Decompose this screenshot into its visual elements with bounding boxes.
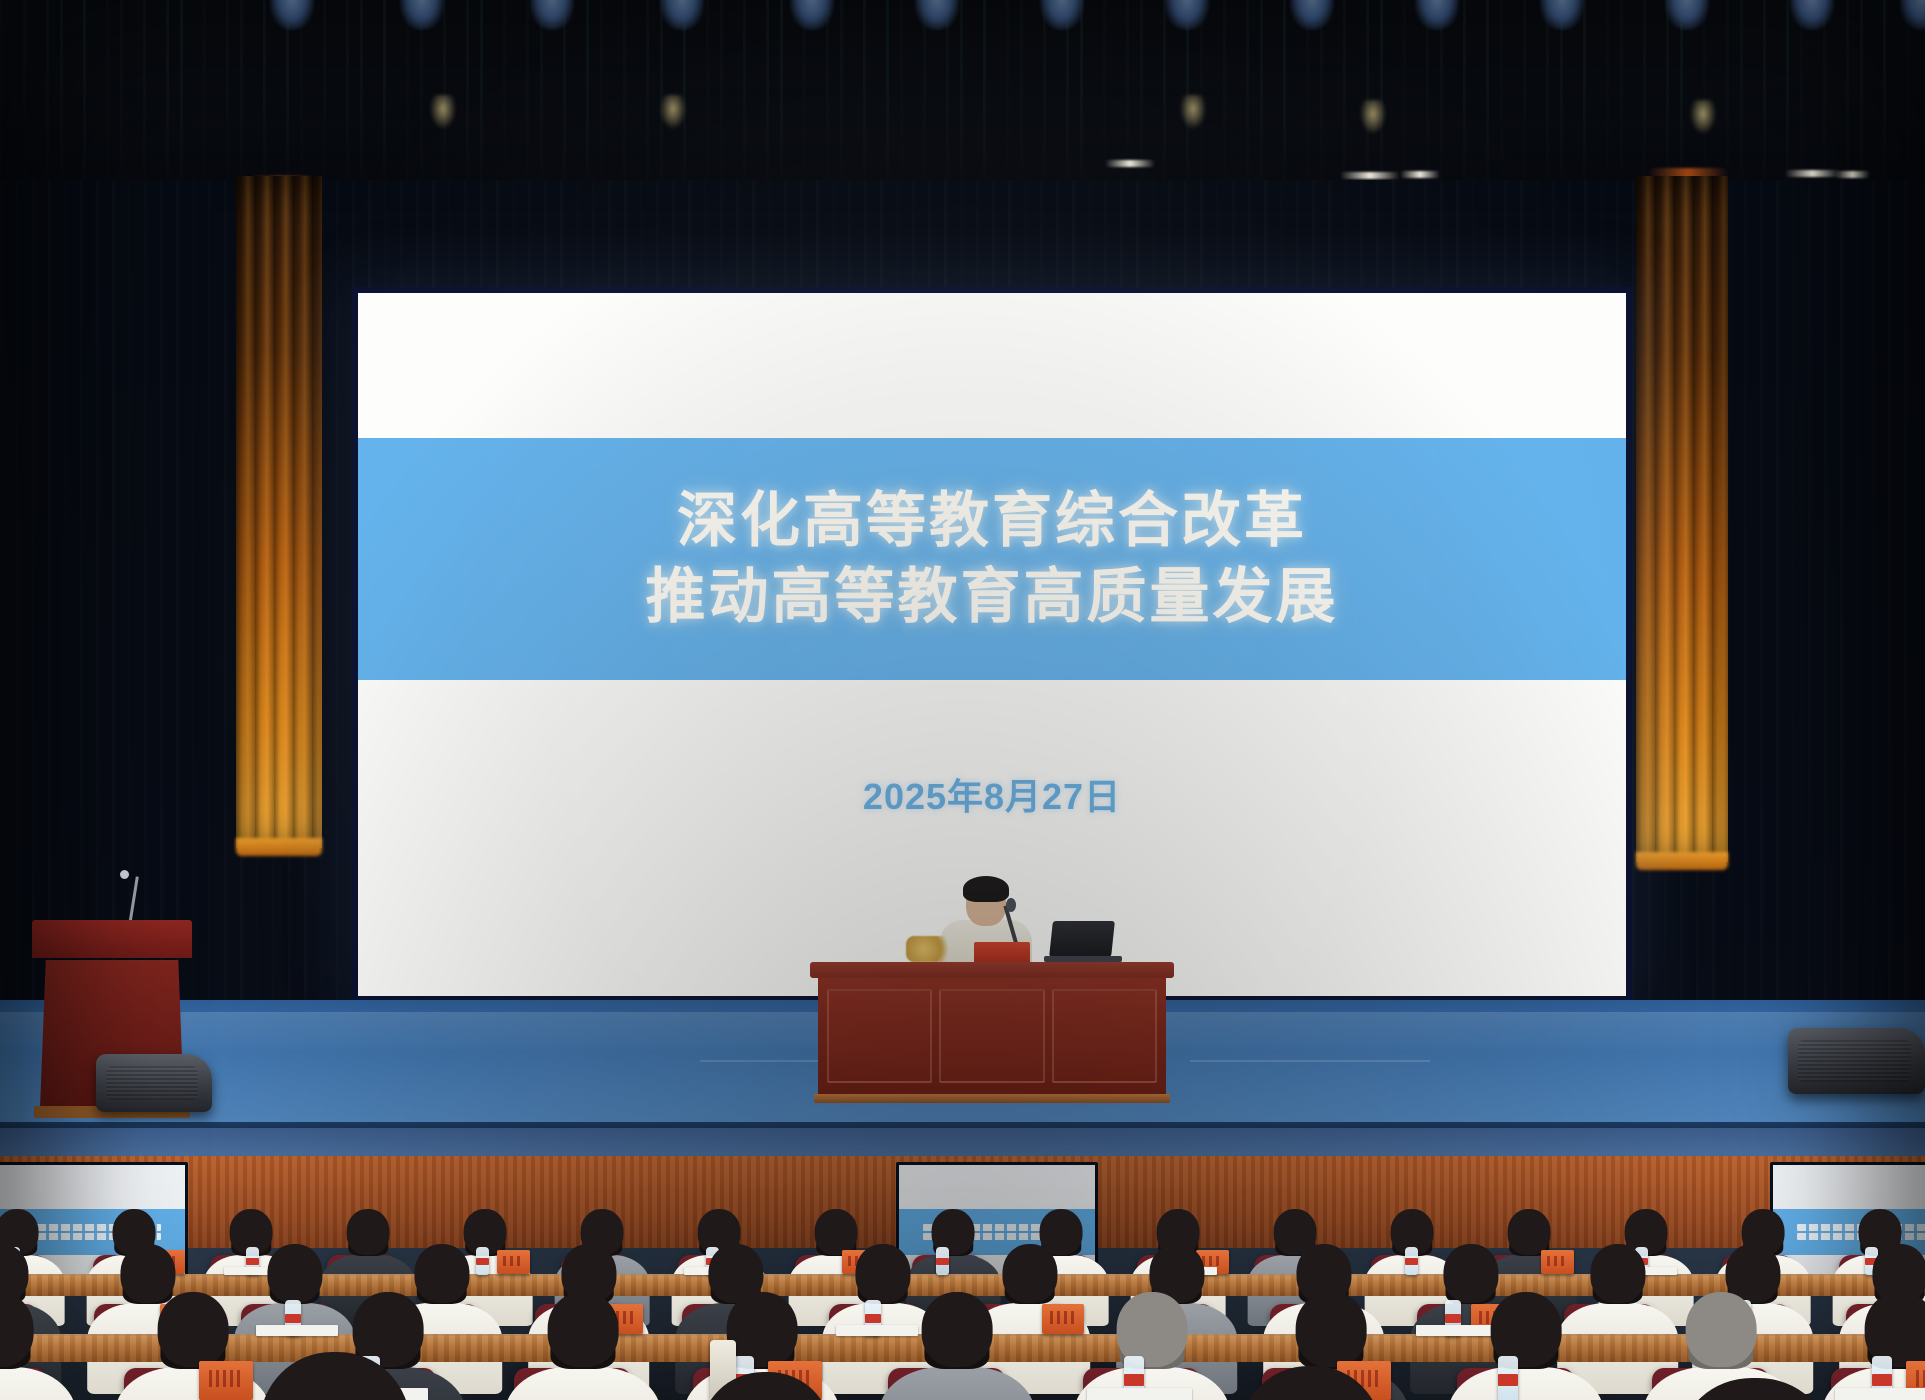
warm-fixture-glow <box>660 95 686 129</box>
backdrop-pleat <box>1808 180 1813 1080</box>
presenter-desk <box>818 962 1166 1110</box>
presenter-figure <box>938 880 1034 970</box>
truss-slat <box>983 0 986 200</box>
truss-slat <box>1140 0 1143 200</box>
foreground-audience-member <box>700 1372 832 1400</box>
truss-slat <box>1560 0 1563 200</box>
truss-slat <box>1546 0 1549 200</box>
slide-title-line-2: 推动高等教育高质量发展 <box>646 562 1339 632</box>
truss-slat <box>1583 0 1586 200</box>
truss-slat <box>1260 0 1263 200</box>
truss-slat <box>1246 0 1249 200</box>
podium-microphone-head <box>120 870 129 879</box>
truss-slat <box>120 0 123 200</box>
curtain-hem-left <box>236 838 322 856</box>
backdrop-pleat <box>0 180 5 1080</box>
truss-slat <box>480 0 483 200</box>
truss-slat <box>720 0 723 200</box>
stage-light <box>660 0 704 30</box>
truss-slat <box>263 0 266 200</box>
audience-member-torso <box>0 1367 76 1400</box>
stage-monitor-speaker-left <box>96 1054 212 1112</box>
presenter-hair <box>963 876 1009 902</box>
ceiling-light-strip <box>1400 171 1440 178</box>
truss-slat <box>226 0 229 200</box>
backdrop-pleat <box>1856 180 1861 1080</box>
backdrop-pleat <box>224 180 229 1080</box>
ceiling-light-strip <box>1340 172 1400 179</box>
desk-red-placard <box>974 942 1030 964</box>
truss-slat <box>300 0 303 200</box>
backdrop-pleat <box>1792 180 1797 1080</box>
backdrop-pleat <box>1728 180 1733 1080</box>
truss-slat <box>1223 0 1226 200</box>
audience-area <box>0 1128 1925 1400</box>
truss-slat <box>563 0 566 200</box>
foreground-audience-member <box>260 1352 410 1400</box>
audience-member-torso <box>1448 1367 1604 1400</box>
truss-slat <box>1643 0 1646 200</box>
truss-slat <box>826 0 829 200</box>
speaker-grille <box>106 1066 198 1100</box>
warm-fixture-glow <box>1360 100 1386 134</box>
warm-fixture-glow <box>1180 95 1206 129</box>
truss-slat <box>1043 0 1046 200</box>
truss-slat <box>1343 0 1346 200</box>
desk-base-trim <box>814 1094 1170 1103</box>
truss-slat <box>1763 0 1766 200</box>
truss-slat <box>526 0 529 200</box>
truss-slat <box>1163 0 1166 200</box>
stage-light <box>530 0 574 30</box>
backdrop-pleat <box>1760 180 1765 1080</box>
truss-slat <box>863 0 866 200</box>
backdrop-pleat <box>192 180 197 1080</box>
speaker-grille <box>1798 1040 1911 1082</box>
truss-slat <box>923 0 926 200</box>
truss-slat <box>646 0 649 200</box>
stage-light <box>1290 0 1334 30</box>
truss-slat <box>1006 0 1009 200</box>
truss-slat <box>0 0 3 200</box>
foreground-head <box>1680 1378 1830 1400</box>
stage-monitor-speaker-right <box>1788 1028 1925 1094</box>
backdrop-pleat <box>208 180 213 1080</box>
warm-fixture-glow <box>430 95 456 129</box>
truss-slat <box>840 0 843 200</box>
monitor-slide-top <box>899 1165 1095 1209</box>
truss-slat <box>1126 0 1129 200</box>
slide-top-margin <box>358 293 1626 438</box>
truss-slat <box>540 0 543 200</box>
conference-hall-photo: 深化高等教育综合改革 推动高等教育高质量发展 2025年8月27日 <box>0 0 1925 1400</box>
audience-member-head <box>922 1292 993 1368</box>
truss-slat <box>420 0 423 200</box>
foreground-head <box>260 1352 410 1400</box>
stage-light <box>1415 0 1459 30</box>
audience-member <box>1074 1292 1230 1400</box>
truss-slat <box>780 0 783 200</box>
audience-member-torso <box>879 1367 1035 1400</box>
truss-slat <box>886 0 889 200</box>
truss-slat <box>1080 0 1083 200</box>
truss-slat <box>323 0 326 200</box>
audience-member-head <box>1296 1292 1367 1368</box>
monitor-slide-top <box>0 1165 185 1209</box>
stage-floor-seam <box>1190 1060 1430 1062</box>
podium-top-surface <box>32 920 192 958</box>
foreground-audience-member <box>1240 1366 1382 1400</box>
foreground-head <box>700 1372 832 1400</box>
audience-member <box>879 1292 1035 1400</box>
truss-slat <box>1403 0 1406 200</box>
truss-slat <box>106 0 109 200</box>
backdrop-pleat <box>336 180 341 1080</box>
truss-slat <box>900 0 903 200</box>
backdrop-pleat <box>1888 180 1893 1080</box>
truss-slat <box>83 0 86 200</box>
truss-slat <box>1283 0 1286 200</box>
desk-panel <box>1052 989 1157 1083</box>
truss-slat <box>1620 0 1623 200</box>
desk-front-face <box>818 978 1166 1094</box>
backdrop-pleat <box>1824 180 1829 1080</box>
truss-slat <box>203 0 206 200</box>
truss-slat <box>466 0 469 200</box>
ceiling-light-strip <box>1785 170 1840 177</box>
desk-top-surface <box>810 962 1174 978</box>
truss-slat <box>803 0 806 200</box>
truss-slat <box>1066 0 1069 200</box>
truss-slat <box>1463 0 1466 200</box>
foreground-head <box>1240 1366 1382 1400</box>
backdrop-pleat <box>1904 180 1909 1080</box>
truss-slat <box>1906 0 1909 200</box>
ceiling-truss <box>0 0 1925 200</box>
truss-slat <box>1440 0 1443 200</box>
truss-slat <box>766 0 769 200</box>
truss-slat <box>286 0 289 200</box>
backdrop-pleat <box>1872 180 1877 1080</box>
truss-slat <box>1860 0 1863 200</box>
stage-curtain-right <box>1636 176 1728 862</box>
stage-light <box>915 0 959 30</box>
audience-member <box>0 1292 76 1400</box>
truss-slat <box>1020 0 1023 200</box>
stage-curtain-left <box>236 176 322 848</box>
backdrop-pleat <box>1840 180 1845 1080</box>
stage-light <box>1040 0 1084 30</box>
stage-light <box>1790 0 1834 30</box>
stage-light <box>270 0 314 30</box>
water-bottle <box>1498 1356 1519 1400</box>
truss-slat <box>1606 0 1609 200</box>
warm-fixture-glow <box>1690 100 1716 134</box>
truss-slat <box>586 0 589 200</box>
truss-slat <box>383 0 386 200</box>
truss-slat <box>1500 0 1503 200</box>
truss-slat <box>23 0 26 200</box>
name-placard <box>199 1361 253 1400</box>
slide-title-line-1: 深化高等教育综合改革 <box>677 486 1307 556</box>
truss-slat <box>503 0 506 200</box>
truss-slat <box>360 0 363 200</box>
monitor-slide-top <box>1773 1165 1925 1209</box>
truss-slat <box>180 0 183 200</box>
audience-member-torso <box>505 1367 661 1400</box>
handout-paper <box>1087 1388 1192 1400</box>
truss-slat <box>60 0 63 200</box>
truss-slat <box>1320 0 1323 200</box>
truss-slat <box>1306 0 1309 200</box>
backdrop-pleat <box>1744 180 1749 1080</box>
truss-slat <box>1523 0 1526 200</box>
truss-slat <box>600 0 603 200</box>
audience-member-head <box>1686 1292 1757 1368</box>
truss-slat <box>743 0 746 200</box>
slide-title-band: 深化高等教育综合改革 推动高等教育高质量发展 <box>358 438 1626 680</box>
truss-slat <box>46 0 49 200</box>
curtain-hem-right <box>1636 852 1728 870</box>
truss-slat <box>1486 0 1489 200</box>
audience-member-head <box>158 1292 229 1368</box>
truss-slat <box>960 0 963 200</box>
truss-slat <box>1846 0 1849 200</box>
backdrop-pleat <box>1776 180 1781 1080</box>
handout-paper <box>1835 1388 1925 1400</box>
truss-slat <box>1103 0 1106 200</box>
truss-slat <box>1740 0 1743 200</box>
audience-member <box>1448 1292 1604 1400</box>
truss-slat <box>623 0 626 200</box>
truss-slat <box>240 0 243 200</box>
presenter-laptop-screen <box>1049 921 1115 957</box>
slide-date: 2025年8月27日 <box>863 768 1121 820</box>
truss-slat <box>706 0 709 200</box>
ceiling-light-strip <box>1105 160 1155 167</box>
truss-slat <box>143 0 146 200</box>
truss-slat <box>166 0 169 200</box>
audience-member-head <box>548 1292 619 1368</box>
desk-panel <box>827 989 932 1083</box>
backdrop-pleat <box>16 180 21 1080</box>
desk-microphone-head <box>1006 898 1016 912</box>
truss-slat <box>1426 0 1429 200</box>
truss-slat <box>406 0 409 200</box>
truss-slat <box>946 0 949 200</box>
foreground-audience-member <box>1680 1378 1830 1400</box>
ceiling-light-strip <box>1835 171 1870 178</box>
stage-light <box>1900 0 1925 30</box>
truss-slat <box>1883 0 1886 200</box>
audience-member <box>505 1292 661 1400</box>
truss-slat <box>346 0 349 200</box>
desk-flower-arrangement <box>906 936 950 962</box>
desk-panel <box>939 989 1044 1083</box>
